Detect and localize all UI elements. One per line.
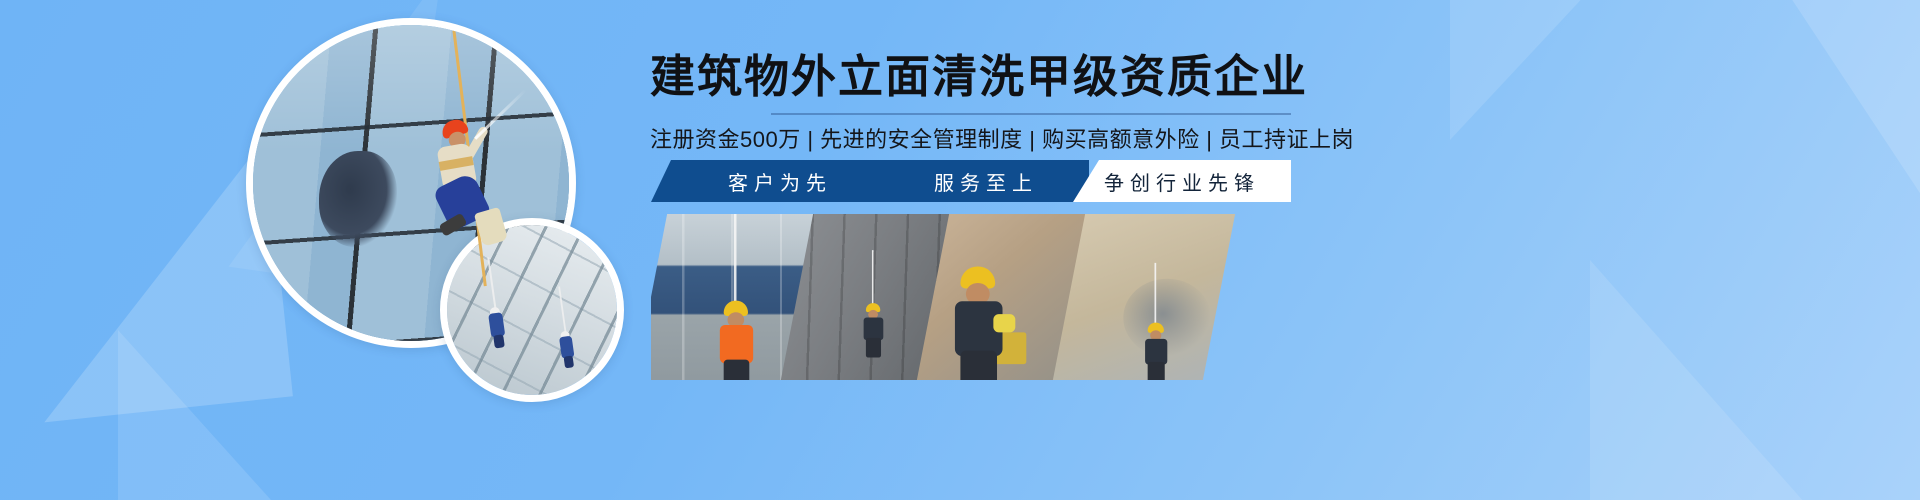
worker-jacket — [864, 317, 884, 340]
worker-boot — [438, 213, 467, 237]
slogan-bar-white-section: 争创行业先锋 — [1073, 160, 1291, 202]
worker-legs — [564, 356, 575, 369]
worker-legs — [493, 334, 505, 348]
promo-banner: 建筑物外立面清洗甲级资质企业 注册资金500万 | 先进的安全管理制度 | 购买… — [0, 0, 1920, 500]
banner-subtitle: 注册资金500万 | 先进的安全管理制度 | 购买高额意外险 | 员工持证上岗 — [650, 122, 1310, 154]
photo-strip — [651, 214, 1291, 380]
worker-legs — [866, 338, 881, 358]
slogan-item-2: 服务至上 — [934, 167, 1038, 196]
strip-photo-4-image — [1053, 214, 1235, 380]
worker-legs — [1148, 362, 1165, 380]
banner-title: 建筑物外立面清洗甲级资质企业 — [650, 50, 1310, 103]
orange-safety-vest — [720, 325, 753, 363]
slogan-bar: 客户为先 服务至上 争创行业先锋 — [651, 160, 1291, 202]
slogan-item-3: 争创行业先锋 — [1104, 167, 1260, 196]
yellow-glove — [993, 314, 1015, 332]
worker-legs — [724, 360, 750, 380]
worker-jacket — [1145, 339, 1167, 365]
title-divider — [771, 113, 1291, 115]
worker-legs — [960, 351, 997, 380]
slogan-item-1: 客户为先 — [728, 167, 832, 196]
slogan-bar-blue-section: 客户为先 服务至上 — [651, 160, 1089, 202]
strip-photo-4 — [1053, 214, 1235, 380]
